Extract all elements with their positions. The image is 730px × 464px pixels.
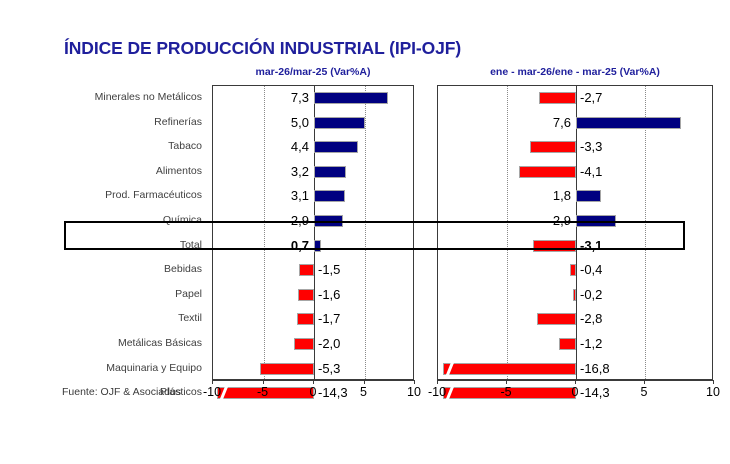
bar-negative (530, 141, 576, 153)
axis-tick (713, 380, 714, 384)
bar-positive (314, 141, 358, 153)
category-label: Maquinaria y Equipo (55, 356, 207, 381)
bar-positive (314, 240, 321, 252)
category-label: Total (55, 233, 207, 258)
bar-positive (314, 92, 388, 104)
page-title: ÍNDICE DE PRODUCCIÓN INDUSTRIAL (IPI-OJF… (64, 38, 461, 59)
bar-positive (314, 190, 345, 202)
bar-value-label: 7,6 (553, 111, 571, 136)
left-chart-plot-area: 7,35,04,43,23,12,90,7-1,5-1,6-1,7-2,0-5,… (212, 85, 414, 380)
category-label: Tabaco (55, 134, 207, 159)
axis-tick-label: 5 (641, 385, 648, 399)
axis-tick (506, 380, 507, 384)
chart-row: 7,3 (213, 86, 413, 111)
axis-tick-label: -5 (500, 385, 511, 399)
category-label: Alimentos (55, 159, 207, 184)
axis-tick (313, 380, 314, 384)
axis-tick (437, 380, 438, 384)
right-chart-x-axis: -10-50510 (437, 380, 713, 402)
axis-tick-label: -10 (203, 385, 221, 399)
bar-value-label: -3,1 (580, 234, 602, 259)
bar-value-label: 2,9 (553, 209, 571, 234)
bar-value-label: -1,5 (318, 258, 340, 283)
bar-positive (576, 215, 616, 227)
axis-tick-label: 0 (310, 385, 317, 399)
bar-negative (260, 363, 314, 375)
bar-value-label: 1,8 (553, 184, 571, 209)
chart-row: 7,6 (438, 111, 712, 136)
bar-value-label: -1,6 (318, 283, 340, 308)
bar-negative (294, 338, 314, 350)
axis-tick-label: 10 (407, 385, 421, 399)
bar-negative (537, 313, 576, 325)
bar-value-label: -2,0 (318, 332, 340, 357)
bar-positive (314, 166, 346, 178)
axis-tick (212, 380, 213, 384)
chart-row: -2,7 (438, 86, 712, 111)
chart-row: 0,7 (213, 234, 413, 259)
category-label: Minerales no Metálicos (55, 85, 207, 110)
chart-container: ÍNDICE DE PRODUCCIÓN INDUSTRIAL (IPI-OJF… (0, 0, 730, 464)
category-label: Textil (55, 306, 207, 331)
bar-value-label: 4,4 (291, 135, 309, 160)
category-label: Metálicas Básicas (55, 331, 207, 356)
axis-tick (575, 380, 576, 384)
bar-value-label: 3,1 (291, 184, 309, 209)
bar-value-label: -4,1 (580, 160, 602, 185)
bar-value-label: -2,8 (580, 307, 602, 332)
axis-tick (263, 380, 264, 384)
chart-row: 2,9 (438, 209, 712, 234)
axis-tick (414, 380, 415, 384)
bar-negative (533, 240, 576, 252)
bar-positive (314, 117, 365, 129)
chart-row: 4,4 (213, 135, 413, 160)
chart-row: -0,2 (438, 283, 712, 308)
bar-value-label: -0,4 (580, 258, 602, 283)
chart-row: 1,8 (438, 184, 712, 209)
axis-tick-label: 10 (706, 385, 720, 399)
axis-tick-label: -5 (257, 385, 268, 399)
bar-positive (314, 215, 343, 227)
chart-row: -1,2 (438, 332, 712, 357)
chart-row: -2,8 (438, 307, 712, 332)
source-note: Fuente: OJF & Asociados (62, 386, 181, 398)
chart-row: -1,5 (213, 258, 413, 283)
category-label: Prod. Farmacéuticos (55, 183, 207, 208)
bar-negative (298, 289, 314, 301)
chart-row: -5,3 (213, 357, 413, 382)
bar-value-label: -1,2 (580, 332, 602, 357)
category-label: Bebidas (55, 257, 207, 282)
chart-row: -0,4 (438, 258, 712, 283)
chart-row: -3,1 (438, 234, 712, 259)
bar-positive (576, 190, 601, 202)
chart-row: -1,6 (213, 283, 413, 308)
bar-value-label: 5,0 (291, 111, 309, 136)
bar-value-label: 2,9 (291, 209, 309, 234)
bar-negative (519, 166, 576, 178)
chart-row: 5,0 (213, 111, 413, 136)
right-panel-subtitle: ene - mar-26/ene - mar-25 (Var%A) (437, 66, 713, 78)
chart-row: 2,9 (213, 209, 413, 234)
bar-value-label: -2,7 (580, 86, 602, 111)
chart-row: -4,1 (438, 160, 712, 185)
left-panel-subtitle: mar-26/mar-25 (Var%A) (212, 66, 414, 78)
chart-row: -16,8 (438, 357, 712, 382)
bar-negative (573, 289, 576, 301)
chart-row: 3,1 (213, 184, 413, 209)
chart-row: -2,0 (213, 332, 413, 357)
bar-negative (559, 338, 576, 350)
bar-value-label: 7,3 (291, 86, 309, 111)
axis-tick (644, 380, 645, 384)
chart-row: -3,3 (438, 135, 712, 160)
bar-positive (576, 117, 681, 129)
axis-tick (364, 380, 365, 384)
chart-row: -1,7 (213, 307, 413, 332)
chart-row: 3,2 (213, 160, 413, 185)
bar-value-label: 3,2 (291, 160, 309, 185)
category-label: Refinerías (55, 110, 207, 135)
bar-negative (297, 313, 314, 325)
axis-tick-label: 0 (572, 385, 579, 399)
bar-negative (299, 264, 314, 276)
axis-tick-label: -10 (428, 385, 446, 399)
bar-value-label: -0,2 (580, 283, 602, 308)
bar-negative (539, 92, 576, 104)
bar-value-label: 0,7 (291, 234, 309, 259)
category-label: Química (55, 208, 207, 233)
bar-negative (570, 264, 576, 276)
bar-value-label: -3,3 (580, 135, 602, 160)
bar-value-label: -16,8 (580, 357, 610, 382)
bar-value-label: -1,7 (318, 307, 340, 332)
category-label-column: Minerales no MetálicosRefineríasTabacoAl… (55, 85, 207, 405)
left-chart-x-axis: -10-50510 (212, 380, 414, 402)
category-label: Papel (55, 282, 207, 307)
bar-negative (443, 363, 576, 375)
right-chart-plot-area: -2,77,6-3,3-4,11,82,9-3,1-0,4-0,2-2,8-1,… (437, 85, 713, 380)
bar-value-label: -5,3 (318, 357, 340, 382)
axis-tick-label: 5 (360, 385, 367, 399)
